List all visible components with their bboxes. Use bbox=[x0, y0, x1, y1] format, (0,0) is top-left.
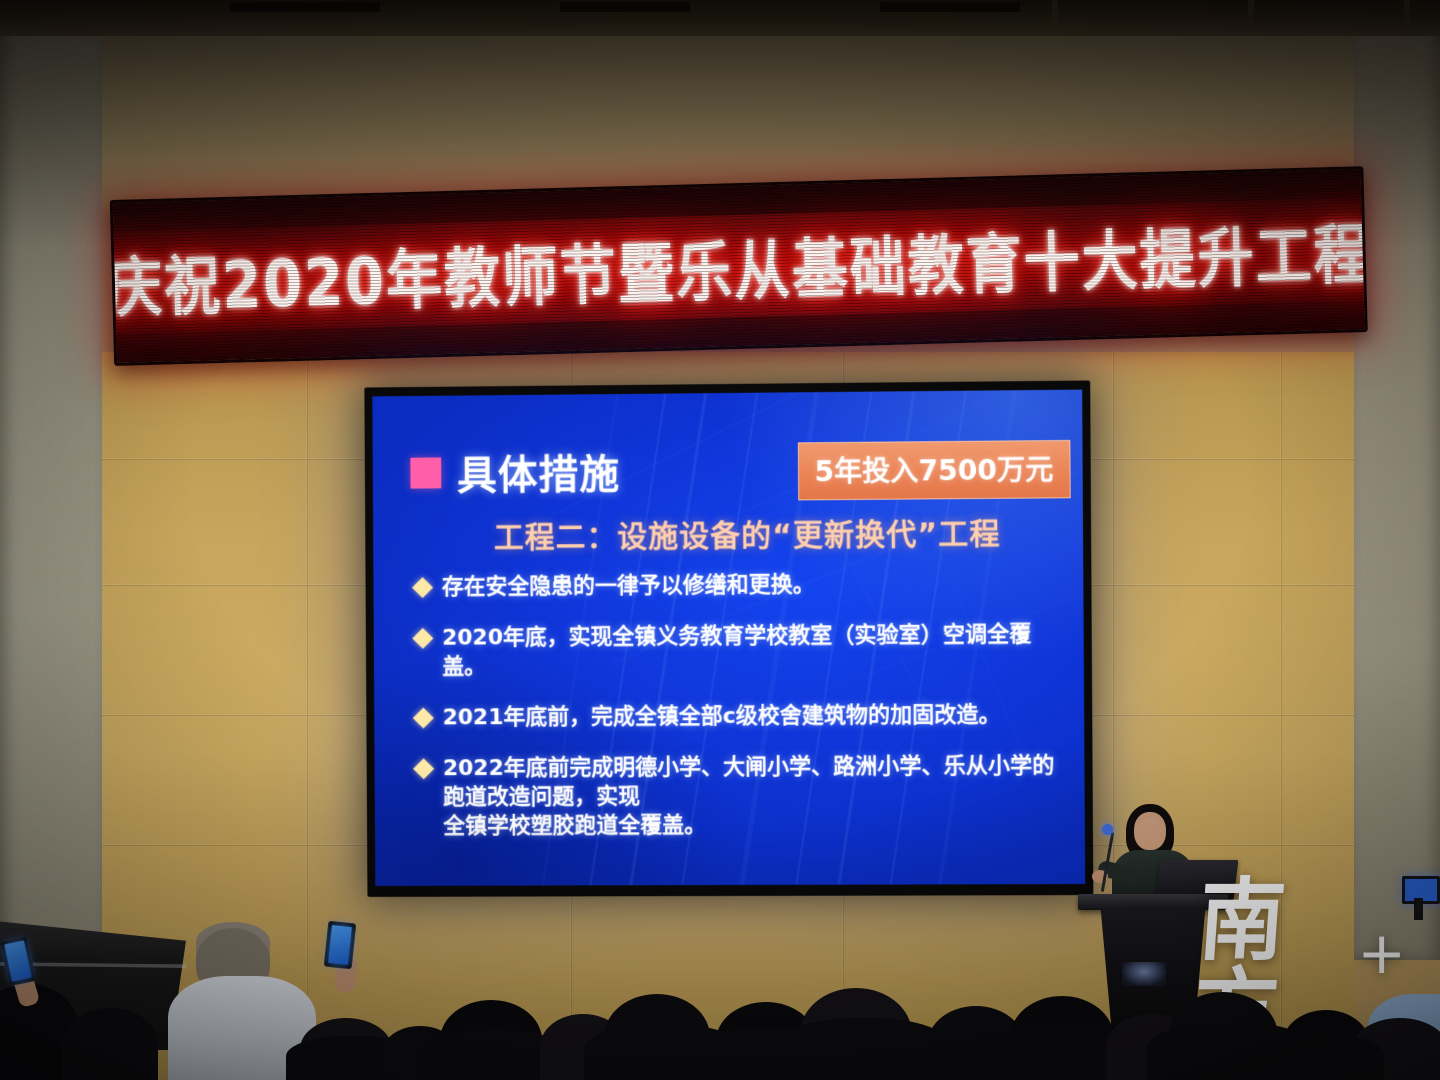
slide-title: 具体措施 bbox=[457, 442, 620, 501]
diamond-bullet-icon bbox=[413, 708, 434, 729]
water-bottle bbox=[872, 1012, 885, 1046]
list-item: 存在安全隐患的一律予以修缮和更换。 bbox=[415, 569, 1057, 602]
presenter-face bbox=[1136, 818, 1164, 848]
list-item: 2021年底前，完成全镇全部c级校舍建筑物的加固改造。 bbox=[416, 700, 1058, 732]
projection-screen-frame: 具体措施 5年投入7500万元 工程二：设施设备的“更新换代”工程 存在安全隐患… bbox=[364, 380, 1093, 896]
list-item: 2020年底，实现全镇义务教育学校教室（实验室）空调全覆盖。 bbox=[415, 620, 1057, 682]
slide-heading: 具体措施 bbox=[410, 442, 620, 502]
podium-area bbox=[1078, 812, 1228, 1032]
bullet-text: 2021年底前，完成全镇全部c级校舍建筑物的加固改造。 bbox=[443, 701, 1001, 733]
podium-emblem-logo-icon bbox=[1122, 962, 1166, 986]
budget-badge: 5年投入7500万元 bbox=[797, 440, 1070, 500]
right-wall-pilaster bbox=[1354, 0, 1440, 960]
pa-speaker-cabinet bbox=[0, 920, 186, 1050]
projection-screen-surface: 具体措施 5年投入7500万元 工程二：设施设备的“更新换代”工程 存在安全隐患… bbox=[372, 390, 1085, 886]
diamond-bullet-icon bbox=[413, 758, 434, 779]
list-item-continuation: 全镇学校塑胶跑道全覆盖。 bbox=[416, 810, 1058, 841]
led-marquee-banner: 乐从镇庆祝2020年教师节暨乐从基础教育十大提升工程发布会 bbox=[110, 166, 1368, 366]
slide-bullet-list: 存在安全隐患的一律予以修缮和更换。 2020年底，实现全镇义务教育学校教室（实验… bbox=[415, 569, 1059, 863]
left-wall-pilaster bbox=[0, 0, 102, 985]
list-item: 2022年底前完成明德小学、大闸小学、路洲小学、乐从小学的跑道改造问题，实现 bbox=[416, 752, 1058, 813]
photo-scene: 乐从镇庆祝2020年教师节暨乐从基础教育十大提升工程发布会 bbox=[0, 0, 1440, 1080]
diamond-bullet-icon bbox=[412, 628, 433, 649]
bullet-text: 2022年底前完成明德小学、大闸小学、路洲小学、乐从小学的跑道改造问题，实现 bbox=[443, 752, 1059, 813]
water-bottle bbox=[1338, 1028, 1350, 1058]
pink-square-bullet-icon bbox=[410, 457, 441, 488]
ceiling-strip bbox=[0, 0, 1440, 36]
slide-subtitle: 工程二：设施设备的“更新换代”工程 bbox=[373, 508, 1083, 557]
microphone-icon bbox=[1102, 824, 1113, 835]
wall-monitor-mount bbox=[1414, 898, 1423, 920]
bullet-text: 存在安全隐患的一律予以修缮和更换。 bbox=[442, 570, 815, 602]
diamond-bullet-icon bbox=[412, 577, 433, 598]
podium-top-surface bbox=[1078, 894, 1228, 910]
bullet-text-wrap: 全镇学校塑胶跑道全覆盖。 bbox=[443, 811, 706, 841]
bullet-text: 2020年底，实现全镇义务教育学校教室（实验室）空调全覆盖。 bbox=[442, 620, 1058, 682]
